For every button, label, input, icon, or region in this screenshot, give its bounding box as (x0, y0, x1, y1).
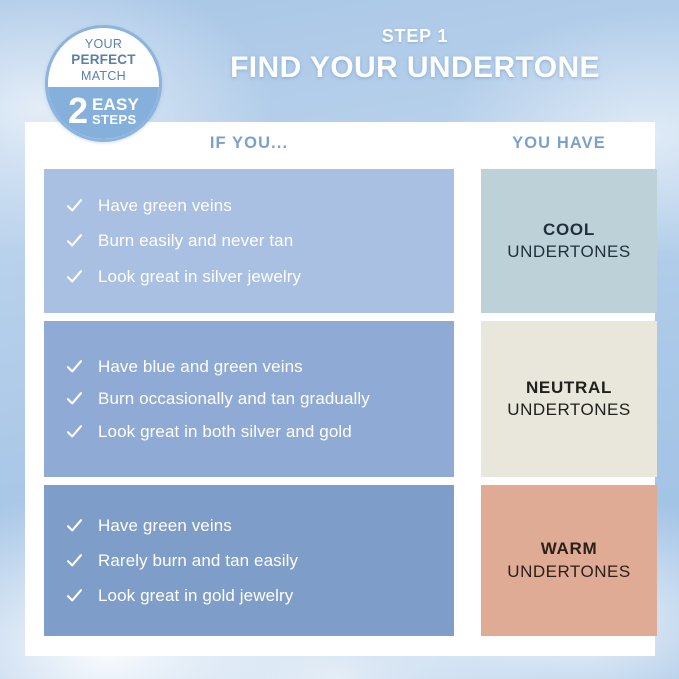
list-item: Look great in gold jewelry (66, 585, 440, 606)
criteria-panel-warm: Have green veins Rarely burn and tan eas… (44, 485, 454, 636)
list-item: Have green veins (66, 515, 440, 536)
step-label: STEP 1 (180, 26, 650, 48)
criteria-text: Have green veins (98, 515, 232, 536)
check-icon (66, 268, 83, 285)
criteria-text: Look great in silver jewelry (98, 266, 301, 287)
list-item: Rarely burn and tan easily (66, 550, 440, 571)
criteria-text: Have green veins (98, 195, 232, 216)
check-icon (66, 587, 83, 604)
badge-steps-text: EASY STEPS (92, 96, 139, 127)
list-item: Look great in both silver and gold (66, 421, 440, 442)
undertone-name: WARM (541, 538, 598, 560)
undertone-sublabel: UNDERTONES (507, 561, 630, 583)
undertone-table-card: IF YOU... YOU HAVE Have green veins Burn… (25, 122, 655, 656)
list-item: Burn occasionally and tan gradually (66, 388, 440, 409)
page-title: FIND YOUR UNDERTONE (180, 51, 650, 86)
table-row: Have green veins Rarely burn and tan eas… (44, 485, 637, 636)
criteria-panel-neutral: Have blue and green veins Burn occasiona… (44, 321, 454, 477)
badge-bottom-half: 2 EASY STEPS (48, 87, 159, 139)
criteria-text: Burn easily and never tan (98, 230, 293, 251)
undertone-swatch-neutral: NEUTRAL UNDERTONES (481, 321, 657, 477)
undertone-name: COOL (543, 219, 595, 241)
criteria-text: Burn occasionally and tan gradually (98, 388, 370, 409)
badge-line-your: YOUR (85, 37, 122, 52)
column-headers: IF YOU... YOU HAVE (44, 134, 637, 168)
check-icon (66, 197, 83, 214)
criteria-text: Rarely burn and tan easily (98, 550, 298, 571)
list-item: Have blue and green veins (66, 356, 440, 377)
check-icon (66, 390, 83, 407)
table-row: Have green veins Burn easily and never t… (44, 169, 637, 313)
badge-top-half: YOUR PERFECT MATCH (48, 28, 159, 87)
list-item: Look great in silver jewelry (66, 266, 440, 287)
criteria-panel-cool: Have green veins Burn easily and never t… (44, 169, 454, 313)
list-item: Burn easily and never tan (66, 230, 440, 251)
check-icon (66, 423, 83, 440)
check-icon (66, 517, 83, 534)
check-icon (66, 232, 83, 249)
table-row: Have blue and green veins Burn occasiona… (44, 321, 637, 477)
criteria-text: Look great in both silver and gold (98, 421, 352, 442)
badge-line-match: MATCH (81, 69, 126, 84)
perfect-match-badge: YOUR PERFECT MATCH 2 EASY STEPS (45, 25, 162, 142)
list-item: Have green veins (66, 195, 440, 216)
header: STEP 1 FIND YOUR UNDERTONE (180, 26, 650, 85)
undertone-name: NEUTRAL (526, 377, 612, 399)
badge-step-count: 2 (68, 95, 88, 127)
check-icon (66, 552, 83, 569)
criteria-text: Have blue and green veins (98, 356, 303, 377)
undertone-swatch-cool: COOL UNDERTONES (481, 169, 657, 313)
check-icon (66, 358, 83, 375)
badge-line-perfect: PERFECT (71, 52, 135, 68)
undertone-swatch-warm: WARM UNDERTONES (481, 485, 657, 636)
badge-label-steps: STEPS (92, 113, 137, 126)
undertone-sublabel: UNDERTONES (507, 399, 630, 421)
undertone-sublabel: UNDERTONES (507, 241, 630, 263)
column-header-you-have: YOU HAVE (481, 134, 637, 153)
badge-label-easy: EASY (92, 96, 139, 113)
criteria-text: Look great in gold jewelry (98, 585, 293, 606)
